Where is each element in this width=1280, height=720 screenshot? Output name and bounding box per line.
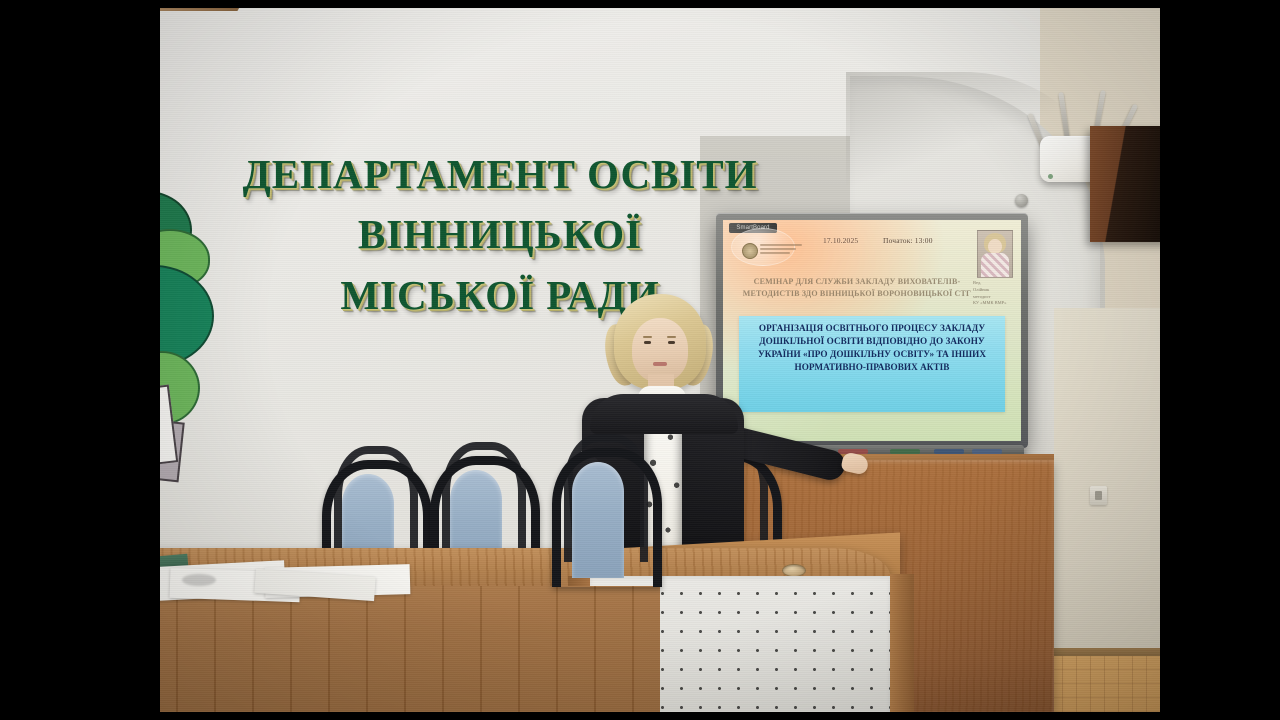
face: [632, 318, 688, 382]
ceiling-fixture-icon: [1015, 194, 1028, 207]
chair-frame: [552, 448, 662, 587]
speaker-caption-line-3: методист: [973, 294, 1013, 301]
jacket-shoulders: [590, 394, 738, 434]
router-led-icon: [1048, 174, 1053, 179]
speaker-portrait: [977, 230, 1013, 278]
letterbox-top: [0, 0, 1280, 8]
slide-start-time: Початок: 13:00: [883, 236, 933, 245]
letterbox-right: [1160, 0, 1280, 720]
slide-header-badge: [731, 228, 795, 266]
podium-right-edge: [888, 574, 914, 712]
emblem-icon: [742, 243, 758, 259]
letterbox-bottom: [0, 712, 1280, 720]
speaker-caption: Вед. Олійник методист КУ «ММК ВМР»: [973, 280, 1013, 307]
slide-date: 17.10.2025: [823, 236, 858, 245]
conference-chair[interactable]: [552, 448, 644, 578]
mouth: [653, 362, 667, 366]
screenshot-stage: ДЕПАРТАМЕНТ ОСВІТИ ВІННИЦЬКОЇ МІСЬКОЇ РА…: [0, 0, 1280, 720]
cabinet-top-face: [160, 8, 243, 11]
room-photograph: ДЕПАРТАМЕНТ ОСВІТИ ВІННИЦЬКОЇ МІСЬКОЇ РА…: [160, 8, 1160, 712]
wall-sign-line-1: ДЕПАРТАМЕНТ ОСВІТИ: [210, 148, 790, 200]
speaker-caption-line-4: КУ «ММК ВМР»: [973, 300, 1013, 307]
document-stamp-mark: [182, 574, 216, 586]
seminar-line-1: СЕМІНАР ДЛЯ СЛУЖБИ ЗАКЛАДУ ВИХОВАТЕЛІВ-: [741, 276, 973, 288]
wall-cabinet: [1090, 126, 1160, 242]
speaker-caption-line-2: Олійник: [973, 287, 1013, 294]
eyebrow-right: [667, 336, 676, 338]
eyebrow-left: [643, 336, 652, 338]
portrait-face: [988, 239, 1002, 254]
eye-left: [644, 341, 651, 344]
wall-sign-line-2: ВІННИЦЬКОЇ: [210, 208, 790, 260]
speaker-caption-line-1: Вед.: [973, 280, 1013, 287]
desk-front-panel: [160, 586, 660, 712]
portrait-body: [981, 253, 1009, 277]
power-outlet-icon: [1090, 486, 1107, 505]
letterbox-left: [0, 0, 160, 720]
badge-text-lines: [760, 244, 804, 256]
eye-right: [668, 341, 675, 344]
